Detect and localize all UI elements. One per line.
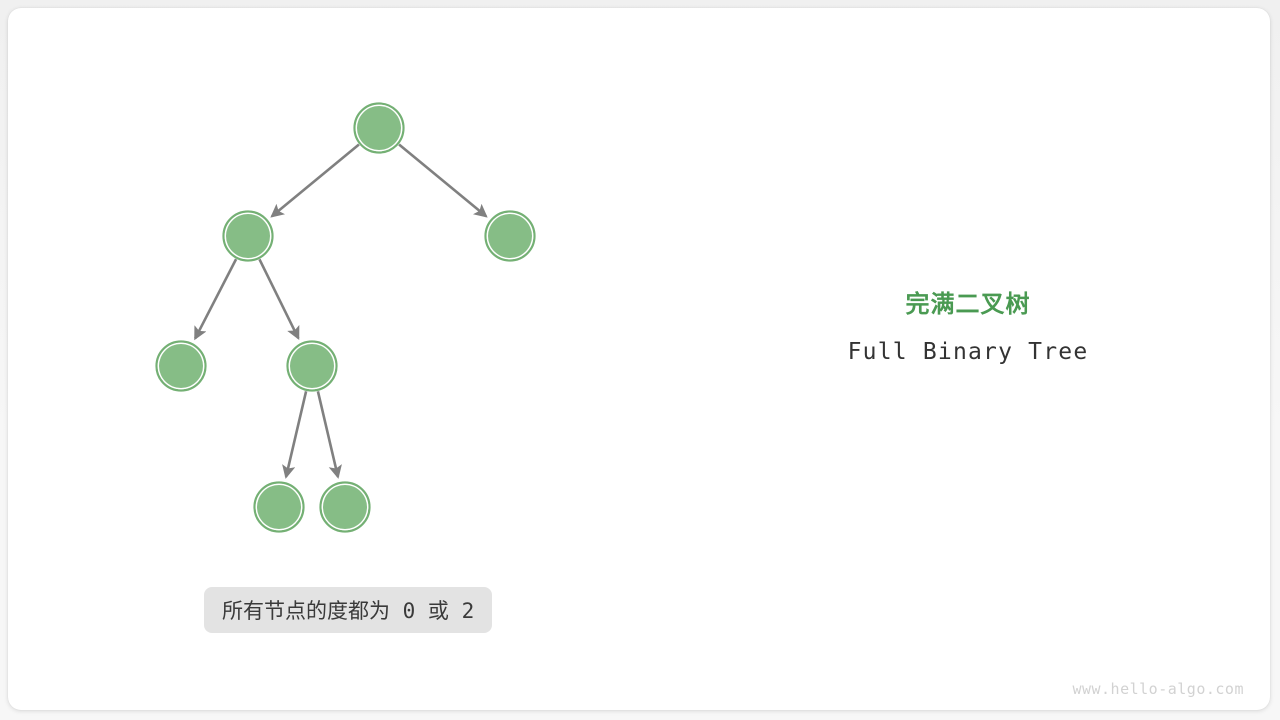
diagram-canvas: 完满二叉树 Full Binary Tree 所有节点的度都为 0 或 2 ww… [0,0,1280,720]
watermark-text: www.hello-algo.com [1072,680,1244,698]
legend-subtitle: Full Binary Tree [790,339,1146,365]
caption-text: 所有节点的度都为 0 或 2 [222,595,474,625]
legend-block: 完满二叉树 Full Binary Tree [790,290,1146,365]
caption-badge: 所有节点的度都为 0 或 2 [204,587,492,633]
legend-title: 完满二叉树 [790,290,1146,319]
